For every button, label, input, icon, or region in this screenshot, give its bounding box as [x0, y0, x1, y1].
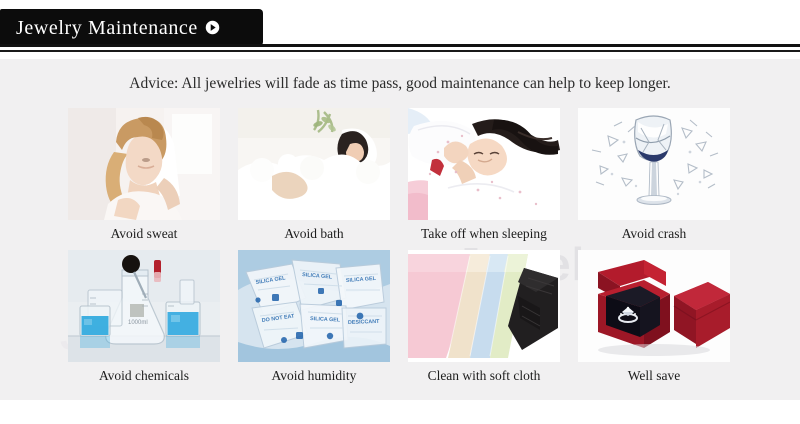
card-caption: Take off when sleeping — [408, 225, 560, 243]
card-caption: Avoid chemicals — [68, 367, 220, 385]
laboratory-beakers-image: 1000ml — [68, 250, 220, 362]
maintenance-card-avoid-crash: Avoid crash — [578, 108, 730, 243]
advice-text: Advice: All jewelries will fade as time … — [0, 75, 800, 93]
maintenance-card-avoid-humidity: SILICA GEL SILICA GEL SILICA GEL DO NOT … — [238, 250, 390, 385]
page-title: Jewelry Maintenance — [16, 18, 198, 38]
woman-sleeping-in-bed-image — [408, 108, 560, 220]
card-caption: Avoid sweat — [68, 225, 220, 243]
maintenance-card-take-off-when-sleeping: Take off when sleeping — [408, 108, 560, 243]
maintenance-card-well-save: Well save — [578, 250, 730, 385]
red-jewelry-boxes-image — [578, 250, 730, 362]
card-caption: Avoid crash — [578, 225, 730, 243]
header-divider-thick — [0, 44, 800, 47]
maintenance-grid: Avoid sweat — [68, 108, 730, 391]
content-panel: Jewels Jewels Advice: All jewelries will… — [0, 59, 800, 400]
maintenance-card-avoid-bath: Avoid bath — [238, 108, 390, 243]
shattering-wine-glass-image — [578, 108, 730, 220]
play-circle-icon — [205, 20, 220, 35]
svg-text:1000ml: 1000ml — [128, 320, 148, 326]
woman-in-bathtub-image — [238, 108, 390, 220]
jewelry-maintenance-page: Jewelry Maintenance Jewels Jewels Advice… — [0, 0, 800, 424]
header-divider-thin — [0, 50, 800, 52]
grid-row: Avoid sweat — [68, 108, 730, 243]
maintenance-card-clean-with-soft-cloth: Clean with soft cloth — [408, 250, 560, 385]
card-caption: Clean with soft cloth — [408, 367, 560, 385]
card-caption: Well save — [578, 367, 730, 385]
svg-text:DESICCANT: DESICCANT — [348, 318, 380, 325]
card-caption: Avoid humidity — [238, 367, 390, 385]
maintenance-card-avoid-chemicals: 1000ml Avoid chemicals — [68, 250, 220, 385]
stacked-soft-cloths-image — [408, 250, 560, 362]
silica-gel-packets-image: SILICA GEL SILICA GEL SILICA GEL DO NOT … — [238, 250, 390, 362]
woman-wiping-sweat-image — [68, 108, 220, 220]
grid-row: 1000ml Avoid chemicals — [68, 250, 730, 385]
header-banner: Jewelry Maintenance — [0, 9, 263, 46]
maintenance-card-avoid-sweat: Avoid sweat — [68, 108, 220, 243]
card-caption: Avoid bath — [238, 225, 390, 243]
